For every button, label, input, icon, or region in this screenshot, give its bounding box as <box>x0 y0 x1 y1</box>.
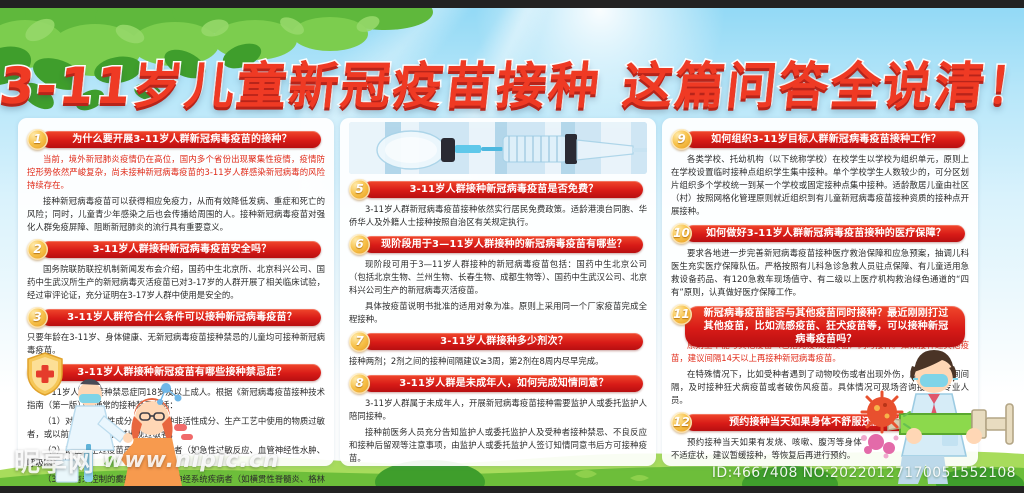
answer-paragraph: 各类学校、托幼机构（以下统称学校）在校学生以学校为组织单元，原则上在学校设置临时… <box>671 153 969 218</box>
question-banner-6[interactable]: 6 现阶段用于3—11岁人群接种的新冠病毒疫苗有哪些？ <box>349 236 647 253</box>
question-banner-3[interactable]: 3 3-11岁人群符合什么条件可以接种新冠病毒疫苗？ <box>27 309 325 326</box>
answer-paragraph: 国务院联防联控机制新闻发布会介绍，国药中生北京所、北京科兴公司、国药中生武汉所生… <box>27 263 325 302</box>
watermark-brand: 昵享网 <box>14 442 95 479</box>
question-banner-11[interactable]: 11 新冠病毒疫苗能否与其他疫苗同时接种？最近刚刚打过其他疫苗，比如流感疫苗、狂… <box>671 306 969 334</box>
virus-illustration <box>856 390 926 460</box>
question-number-7: 7 <box>349 331 370 352</box>
question-banner-8[interactable]: 8 3-11岁人群是未成年人，如何完成知情同意？ <box>349 375 647 392</box>
question-banner-1[interactable]: 1 为什么要开展3-11岁人群新冠病毒疫苗的接种？ <box>27 131 325 148</box>
column-middle: 5 3-11岁人群接种新冠病毒疫苗是否免费？ 3-11岁人群新冠病毒疫苗接种依然… <box>340 118 656 466</box>
question-number-11: 11 <box>671 304 692 325</box>
site-watermark: 昵享网 www.nipic.cn <box>14 442 280 479</box>
question-text-3: 3-11岁人群符合什么条件可以接种新冠病毒疫苗？ <box>41 309 321 326</box>
question-text-1: 为什么要开展3-11岁人群新冠病毒疫苗的接种？ <box>41 131 321 148</box>
answer-paragraph: 预约接种当天如果有发烧、咳嗽、腹泻等身体不适症状，建议暂缓接种，等恢复后再进行预… <box>671 436 862 462</box>
question-banner-7[interactable]: 7 3-11岁人群接种多少剂次？ <box>349 333 647 350</box>
answer-paragraph: 3-11岁人群属于未成年人，开展新冠病毒疫苗接种需要监护人或委托监护人陪同接种。 <box>349 397 647 423</box>
answer-paragraph: 3-11岁人群新冠病毒疫苗接种依然实行居民免费政策。适龄港澳台同胞、华侨华人及外… <box>349 203 647 229</box>
letterbox-top <box>0 0 1024 8</box>
question-banner-9[interactable]: 9 如何组织3-11岁目标人群新冠病毒疫苗接种工作？ <box>671 131 969 148</box>
question-text-2: 3-11岁人群接种新冠病毒疫苗安全吗？ <box>41 241 321 258</box>
title-line-2: 这篇问答全说清！ <box>620 57 1024 115</box>
answer-paragraph: 接种两剂；2剂之间的接种间隔建议≥3周，第2剂在8周内尽早完成。 <box>349 355 647 368</box>
answer-paragraph: 只要年龄在3-11岁、身体健康、无新冠病毒疫苗接种禁忌的儿童均可接种新冠病毒疫苗… <box>27 331 325 357</box>
answer-paragraph: 现阶段可用于3—11岁人群接种的新冠病毒疫苗包括：国药中生北京公司（包括北京生物… <box>349 258 647 297</box>
question-text-7: 3-11岁人群接种多少剂次？ <box>363 333 643 350</box>
letterbox-bottom <box>0 486 1024 493</box>
poster-canvas: 3-11岁儿童新冠疫苗接种这篇问答全说清！ <box>0 0 1024 493</box>
page-title: 3-11岁儿童新冠疫苗接种这篇问答全说清！ <box>0 46 1024 118</box>
question-number-5: 5 <box>349 179 370 200</box>
question-text-9: 如何组织3-11岁目标人群新冠病毒疫苗接种工作？ <box>685 131 965 148</box>
question-text-5: 3-11岁人群接种新冠病毒疫苗是否免费？ <box>363 181 643 198</box>
question-banner-10[interactable]: 10 如何做好3-11岁人群新冠病毒疫苗接种的医疗保障？ <box>671 225 969 242</box>
question-banner-2[interactable]: 2 3-11岁人群接种新冠病毒疫苗安全吗？ <box>27 241 325 258</box>
answer-paragraph: 具体按疫苗说明书批准的适用对象为准。原则上采用同一个厂家疫苗完成全程接种。 <box>349 300 647 326</box>
question-number-2: 2 <box>27 239 48 260</box>
answer-paragraph: 要求各地进一步完善新冠病毒疫苗接种医疗救治保障和应急预案，抽调儿科医生充实医疗保… <box>671 247 969 299</box>
question-text-10: 如何做好3-11岁人群新冠病毒疫苗接种的医疗保障？ <box>685 225 965 242</box>
question-banner-5[interactable]: 5 3-11岁人群接种新冠病毒疫苗是否免费？ <box>349 181 647 198</box>
question-number-3: 3 <box>27 307 48 328</box>
answer-paragraph: 接种前医务人员充分告知监护人或委托监护人及受种者接种禁忌、不良反应和接种后留观等… <box>349 426 647 465</box>
question-number-6: 6 <box>349 234 370 255</box>
question-number-9: 9 <box>671 129 692 150</box>
answer-paragraph: 当前，境外新冠肺炎疫情仍在高位，国内多个省份出现聚集性疫情，疫情防控形势依然严峻… <box>27 153 325 192</box>
question-number-10: 10 <box>671 223 692 244</box>
question-text-6: 现阶段用于3—11岁人群接种的新冠病毒疫苗有哪些？ <box>363 236 643 253</box>
answer-paragraph: 接种新冠病毒疫苗可以获得相应免疫力，从而有效降低发病、重症和死亡的风险；同时，儿… <box>27 195 325 234</box>
question-text-11: 新冠病毒疫苗能否与其他疫苗同时接种？最近刚刚打过其他疫苗，比如流感疫苗、狂犬疫苗… <box>685 306 965 347</box>
question-number-1: 1 <box>27 129 48 150</box>
image-id-tag: ID:4667408 NO:20220127170051552108 <box>712 465 1016 481</box>
watermark-url: www.nipic.cn <box>103 448 280 473</box>
question-text-8: 3-11岁人群是未成年人，如何完成知情同意？ <box>363 375 643 392</box>
vaccine-vial-photo <box>349 122 647 174</box>
question-number-8: 8 <box>349 373 370 394</box>
title-line-1: 3-11岁儿童新冠疫苗接种 <box>0 57 604 115</box>
